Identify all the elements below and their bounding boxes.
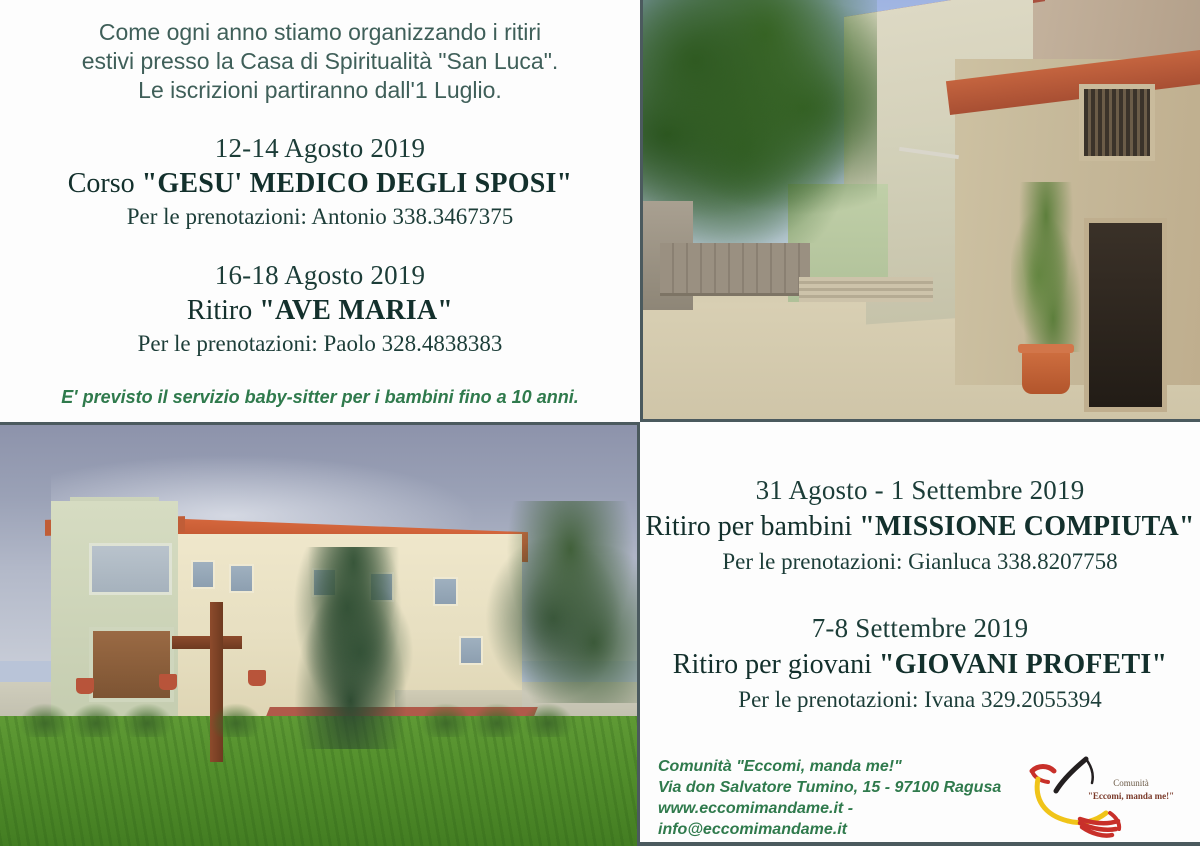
entrance-doors [89, 627, 173, 702]
shrub [522, 703, 574, 737]
footer-address: Via don Salvatore Tumino, 15 - 97100 Rag… [658, 777, 1014, 798]
photo-frame-courtyard [640, 0, 1200, 422]
event-title-prefix: Ritiro per giovani [673, 649, 879, 680]
event-date: 12-14 Agosto 2019 [0, 131, 640, 165]
event-date: 16-18 Agosto 2019 [0, 258, 640, 292]
bottom-right-text-panel: 31 Agosto - 1 Settembre 2019 Ritiro per … [640, 422, 1200, 846]
event-date: 31 Agosto - 1 Settembre 2019 [640, 472, 1200, 508]
potted-sapling [1011, 182, 1081, 352]
dry-stone-wall [660, 243, 810, 296]
shrub [121, 703, 173, 737]
flower-pot [248, 670, 266, 686]
event-ave-maria: 16-18 Agosto 2019 Ritiro "AVE MARIA" Per… [0, 258, 640, 359]
retreat-house-scene [0, 425, 637, 846]
window [191, 560, 215, 589]
babysitter-note: E' previsto il servizio baby-sitter per … [0, 387, 640, 422]
event-giovani-profeti: 7-8 Settembre 2019 Ritiro per giovani "G… [640, 610, 1200, 716]
event-booking: Per le prenotazioni: Ivana 329.2055394 [640, 684, 1200, 716]
barred-window [1079, 84, 1156, 161]
top-left-text-panel: Come ogni anno stiamo organizzando i rit… [0, 0, 640, 422]
poster-root: Come ogni anno stiamo organizzando i rit… [0, 0, 1200, 846]
intro-line-2: estivi presso la Casa di Spiritualità "S… [22, 47, 618, 76]
footer-community-name: Comunità "Eccomi, manda me!" [658, 756, 1014, 777]
event-booking: Per le prenotazioni: Paolo 328.4838383 [0, 329, 640, 359]
intro-line-1: Come ogni anno stiamo organizzando i rit… [22, 18, 618, 47]
event-title-main: "MISSIONE COMPIUTA" [859, 511, 1194, 542]
intro-paragraph: Come ogni anno stiamo organizzando i rit… [22, 18, 618, 105]
event-title-prefix: Corso [68, 168, 142, 199]
event-missione-compiuta: 31 Agosto - 1 Settembre 2019 Ritiro per … [640, 472, 1200, 578]
event-title-main: "AVE MARIA" [259, 295, 453, 326]
event-title: Ritiro "AVE MARIA" [0, 292, 640, 329]
steps [799, 277, 933, 302]
intro-line-3: Le iscrizioni partiranno dall'1 Luglio. [22, 76, 618, 105]
flower-pot [76, 678, 94, 694]
shrub [70, 703, 122, 737]
event-booking: Per le prenotazioni: Antonio 338.3467375 [0, 202, 640, 232]
shrub [420, 703, 472, 737]
event-title: Ritiro per bambini "MISSIONE COMPIUTA" [640, 508, 1200, 546]
event-title-main: "GIOVANI PROFETI" [879, 649, 1167, 680]
footer-contact: Comunità "Eccomi, manda me!" Via don Sal… [658, 756, 1014, 840]
entrance-doorway [1084, 218, 1166, 412]
event-title: Ritiro per giovani "GIOVANI PROFETI" [640, 646, 1200, 684]
shrub [19, 703, 71, 737]
shrub [471, 703, 523, 737]
window [433, 577, 457, 606]
event-title-prefix: Ritiro [187, 295, 259, 326]
terracotta-pot [1022, 350, 1070, 394]
photo-courtyard [640, 0, 1200, 422]
event-gesu-medico-degli-sposi: 12-14 Agosto 2019 Corso "GESU' MEDICO DE… [0, 131, 640, 232]
bottom-rule [640, 842, 1200, 846]
footer-web-email: www.eccomimandame.it - info@eccomimandam… [658, 798, 1014, 840]
large-window [89, 543, 171, 595]
footer: Comunità "Eccomi, manda me!" Via don Sal… [640, 750, 1200, 846]
event-title-prefix: Ritiro per bambini [645, 511, 859, 542]
courtyard-scene [643, 0, 1200, 419]
background-tree [484, 501, 640, 703]
flower-pot [159, 674, 177, 690]
window [459, 636, 483, 665]
window [229, 564, 253, 593]
community-logo: Comunità "Eccomi, manda me!" [1014, 755, 1186, 841]
event-booking: Per le prenotazioni: Gianluca 338.820775… [640, 546, 1200, 578]
event-title: Corso "GESU' MEDICO DEGLI SPOSI" [0, 165, 640, 202]
photo-retreat-house [0, 422, 640, 846]
cedar-tree [280, 547, 427, 749]
wooden-cross-beam [172, 636, 242, 649]
logo-caption-line-1: Comunità [1076, 777, 1186, 790]
wooden-cross-post [210, 602, 223, 762]
photo-frame-retreat-house [0, 422, 640, 846]
shrub [210, 703, 262, 737]
event-date: 7-8 Settembre 2019 [640, 610, 1200, 646]
event-title-main: "GESU' MEDICO DEGLI SPOSI" [142, 168, 573, 199]
logo-caption: Comunità "Eccomi, manda me!" [1076, 777, 1186, 803]
logo-caption-line-2: "Eccomi, manda me!" [1076, 790, 1186, 803]
